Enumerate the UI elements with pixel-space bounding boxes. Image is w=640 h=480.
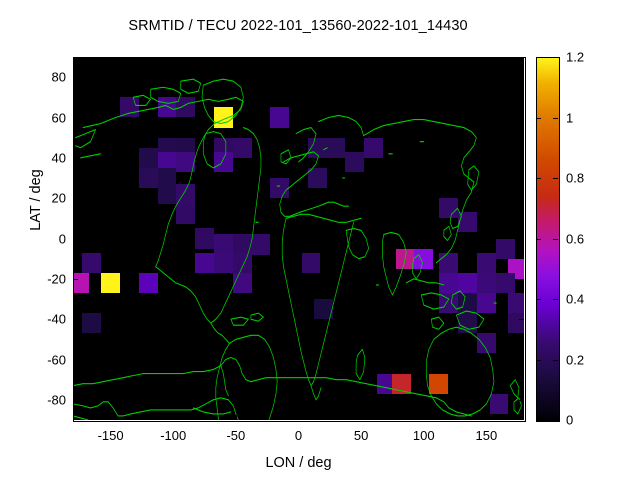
y-tick-label: 60: [0, 110, 72, 125]
y-tick-mark: [73, 319, 78, 320]
colorbar-tick-mark: [553, 178, 558, 179]
colorbar-tick-mark: [536, 239, 541, 240]
x-tick-label: 50: [331, 428, 391, 443]
colorbar-tick-mark: [553, 57, 558, 58]
colorbar-tick-mark: [536, 299, 541, 300]
colorbar-tick-mark: [536, 57, 541, 58]
y-tick-label: -60: [0, 352, 72, 367]
y-tick-mark: [73, 360, 78, 361]
x-tick-mark: [299, 57, 300, 62]
colorbar-tick-label: 0.4: [566, 292, 584, 307]
y-tick-label: -20: [0, 271, 72, 286]
y-axis-label: LAT / deg: [28, 140, 44, 260]
y-tick-mark: [73, 158, 78, 159]
colorbar-tick-label: 0: [566, 413, 573, 428]
y-tick-mark: [519, 319, 524, 320]
y-tick-label: -40: [0, 312, 72, 327]
colorbar-tick-mark: [553, 239, 558, 240]
colorbar-tick-label: 0.6: [566, 231, 584, 246]
x-tick-mark: [424, 57, 425, 62]
x-tick-mark: [361, 57, 362, 62]
y-tick-mark: [73, 77, 78, 78]
y-tick-mark: [519, 77, 524, 78]
colorbar-tick-mark: [553, 420, 558, 421]
x-tick-mark: [236, 415, 237, 420]
x-tick-mark: [299, 415, 300, 420]
x-tick-mark: [424, 415, 425, 420]
x-tick-mark: [236, 57, 237, 62]
x-tick-mark: [111, 415, 112, 420]
y-tick-mark: [73, 118, 78, 119]
y-tick-mark: [519, 400, 524, 401]
y-tick-mark: [519, 118, 524, 119]
y-tick-mark: [73, 198, 78, 199]
colorbar-gradient: [537, 58, 559, 421]
x-tick-mark: [486, 57, 487, 62]
x-tick-label: -50: [206, 428, 266, 443]
y-tick-mark: [519, 198, 524, 199]
colorbar-tick-mark: [536, 420, 541, 421]
x-tick-label: 0: [269, 428, 329, 443]
y-tick-mark: [519, 239, 524, 240]
x-tick-label: 100: [394, 428, 454, 443]
page-title: SRMTID / TECU 2022-101_13560-2022-101_14…: [0, 18, 596, 34]
y-tick-label: -80: [0, 392, 72, 407]
y-tick-label: 80: [0, 70, 72, 85]
y-tick-mark: [73, 400, 78, 401]
x-tick-mark: [111, 57, 112, 62]
colorbar-tick-mark: [553, 360, 558, 361]
y-tick-mark: [519, 279, 524, 280]
x-tick-mark: [173, 415, 174, 420]
colorbar-tick-mark: [536, 360, 541, 361]
colorbar-tick-mark: [536, 178, 541, 179]
x-tick-label: -100: [143, 428, 203, 443]
colorbar-tick-label: 1.2: [566, 50, 584, 65]
x-tick-mark: [486, 415, 487, 420]
colorbar-tick-mark: [553, 299, 558, 300]
x-tick-mark: [361, 415, 362, 420]
colorbar-tick-label: 0.8: [566, 171, 584, 186]
tec-map-figure: SRMTID / TECU 2022-101_13560-2022-101_14…: [0, 0, 640, 480]
x-tick-label: 150: [456, 428, 516, 443]
coastline-overlay: [73, 57, 524, 420]
x-tick-mark: [173, 57, 174, 62]
colorbar-tick-mark: [553, 118, 558, 119]
colorbar-tick-label: 0.2: [566, 352, 584, 367]
x-axis-label: LON / deg: [73, 455, 524, 471]
y-tick-mark: [519, 360, 524, 361]
y-tick-mark: [73, 279, 78, 280]
y-tick-mark: [73, 239, 78, 240]
map-plot-area: [73, 57, 524, 420]
y-tick-mark: [519, 158, 524, 159]
x-tick-label: -150: [81, 428, 141, 443]
colorbar-tick-mark: [536, 118, 541, 119]
colorbar: [536, 57, 560, 422]
colorbar-tick-label: 1: [566, 110, 573, 125]
